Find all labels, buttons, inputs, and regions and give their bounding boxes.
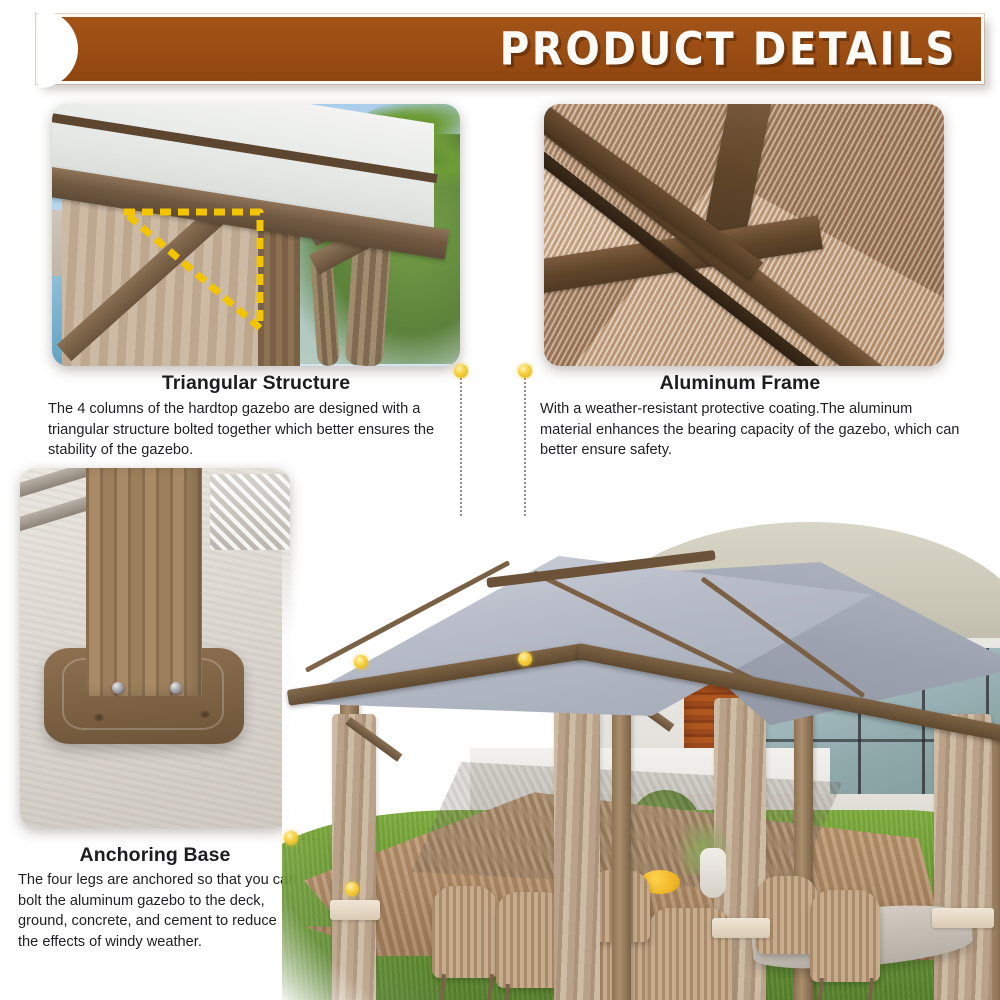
dining-chair-7 bbox=[810, 890, 880, 982]
anchor-bolt-hole-right bbox=[200, 711, 210, 718]
gazebo-post-center bbox=[612, 670, 631, 1000]
banner-bar: PRODUCT DETAILS bbox=[36, 14, 984, 84]
triangle-highlight-annotation bbox=[118, 204, 266, 336]
callout-dot-aluminum-target bbox=[518, 652, 532, 666]
aluminum-frame-description: With a weather-resistant protective coat… bbox=[540, 399, 960, 461]
callout-dot-aluminum-top bbox=[518, 364, 532, 378]
anchoring-base-title: Anchoring Base bbox=[10, 844, 300, 867]
gazebo-curtain-center bbox=[554, 684, 600, 1000]
decorative-lantern bbox=[210, 474, 290, 550]
main-gazebo-scene-image bbox=[282, 518, 1000, 1000]
callout-dot-anchoring-target bbox=[345, 882, 359, 896]
gazebo-curtain-front-left bbox=[332, 714, 376, 1000]
triangular-structure-image bbox=[52, 104, 460, 366]
product-details-page: PRODUCT DETAILS bbox=[0, 0, 1000, 1000]
aluminum-frame-title: Aluminum Frame bbox=[540, 372, 940, 395]
callout-dot-anchoring-origin bbox=[284, 831, 298, 845]
anchor-bolt-right bbox=[170, 682, 182, 694]
page-title: PRODUCT DETAILS bbox=[500, 27, 957, 72]
callout-dot-triangular-target bbox=[354, 655, 368, 669]
aluminum-frame-photo-content bbox=[544, 104, 944, 366]
anchor-bolt-hole-left bbox=[94, 714, 104, 721]
dining-chair-6 bbox=[756, 876, 818, 954]
triangular-structure-title: Triangular Structure bbox=[0, 372, 512, 395]
anchor-bolt-left bbox=[112, 682, 124, 694]
aluminum-frame-image bbox=[544, 104, 944, 366]
header-banner: PRODUCT DETAILS bbox=[36, 14, 984, 84]
dining-chair-1 bbox=[432, 886, 498, 978]
triangular-structure-photo-content bbox=[52, 104, 460, 366]
table-vase bbox=[700, 848, 726, 898]
gazebo-curtain-rear-right bbox=[934, 714, 992, 1000]
anchoring-base-description: The four legs are anchored so that you c… bbox=[18, 870, 298, 953]
curtain-tieback-1 bbox=[330, 900, 380, 920]
triangular-structure-description: The 4 columns of the hardtop gazebo are … bbox=[48, 399, 468, 461]
gazebo-leg-column bbox=[86, 468, 202, 696]
curtain-tieback-2 bbox=[712, 918, 770, 938]
curtain-tieback-3 bbox=[932, 908, 994, 928]
callout-dot-triangular-top bbox=[454, 364, 468, 378]
anchoring-base-image bbox=[20, 468, 290, 828]
anchoring-base-photo-content bbox=[20, 468, 290, 828]
banner-notch-decoration bbox=[38, 10, 78, 88]
